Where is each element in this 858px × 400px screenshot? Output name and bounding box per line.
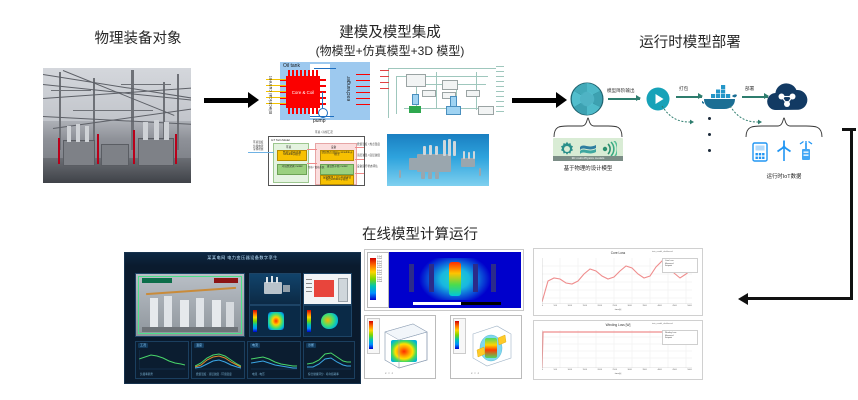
dashboard-chart-legend-1: 绕组温度 · 顶层油温 · 环境温度 xyxy=(196,372,232,376)
dashboard-thumb-2[interactable] xyxy=(249,305,301,337)
sphere-mesh-icon xyxy=(570,82,604,116)
chart-1-xlabel: time[s] xyxy=(615,373,621,375)
pipeline-arrow-2 xyxy=(676,96,702,98)
oil-tank-diagram: Oil tank Core & Coil Electrical current … xyxy=(266,62,370,128)
dashboard-chart-label-1: 温度 xyxy=(194,343,204,348)
iot-data-brace xyxy=(744,116,824,138)
dashboard-thumb-0[interactable] xyxy=(249,273,301,305)
dashboard-chart-label-2: 电流 xyxy=(250,343,260,348)
twin-pink-pane-label: 设备 xyxy=(331,145,336,149)
twin-block-2: 绕组热点温度与 simulink子模型 xyxy=(321,151,353,158)
meter-icon xyxy=(752,142,768,167)
iot-twin-model-box: IoT Twin Model 环境 热源与损耗计算 simulink子模型 环境… xyxy=(268,136,365,186)
twin-block-4: 油温热平衡 model xyxy=(321,165,353,169)
cloud-nodes-icon xyxy=(766,83,808,113)
transformer-3d-render xyxy=(387,134,489,186)
online-section-title: 在线模型计算运行 xyxy=(345,226,495,246)
pipeline-arrow-label-2: 部署 xyxy=(745,86,754,92)
wind-turbine-icon xyxy=(775,140,793,167)
iot-data-label: 运行时IoT数据 xyxy=(744,172,824,180)
substation-photo xyxy=(43,68,191,183)
dashboard-title: 某某电网 电力变压器设备数字孪生 xyxy=(207,255,277,261)
electrical-current-label: Electrical current xyxy=(268,76,273,114)
fea-3d-plot-0: X Y Z xyxy=(364,315,436,379)
chart-0-xticks: 0500100015002000 25003000350040004500500… xyxy=(542,305,692,307)
pump-label: pump xyxy=(313,118,326,124)
twin-mid-note-1: 环境 / 冷却工况 xyxy=(315,130,333,134)
oil-tank-label: Oil tank xyxy=(283,63,300,69)
chart-0-legend-2: Setpoint xyxy=(665,265,695,268)
twin-left-notes: 环境温度 负载电流 冷却状态 xyxy=(253,141,263,152)
line-chart-winding-loss: Winding Loss [W] twin_model_dashboard Wi… xyxy=(533,320,703,380)
chart-1-title: Winding Loss [W] xyxy=(606,323,631,327)
chart-0-legend: Core Loss Measured Setpoint xyxy=(662,258,698,273)
chart-0-xlabel: time[s] xyxy=(615,309,621,311)
right-note-0: 绕组温度 / 热点温度 xyxy=(357,143,380,147)
dashboard-chart-label-0: 工况 xyxy=(138,343,148,348)
dashboard-main-view[interactable] xyxy=(135,273,245,337)
physical-section-title: 物理装备对象 xyxy=(58,30,218,50)
chart-1-legend: Winding Loss Measured Setpoint xyxy=(662,330,698,345)
dashboard-chart-legend-2: 电流 · 电压 xyxy=(252,372,265,376)
pipeline-arrow-3 xyxy=(742,96,768,98)
feedback-line-vertical xyxy=(850,128,853,300)
right-note-1: 顶层油温 / 底层油温 xyxy=(357,154,380,158)
chart-1-xticks: 0500100015002000 25003000350040004500500… xyxy=(542,369,692,371)
chart-1-legend-2: Setpoint xyxy=(665,337,695,340)
dashboard-chart-1[interactable]: 温度 绕组温度 · 顶层油温 · 环境温度 xyxy=(191,341,245,379)
twin-block-5: 设备整体工况与寿命评估 综合simulink子模型 xyxy=(321,176,353,183)
twin-green-pane-label: 环境 xyxy=(286,145,291,149)
feedback-line-bottom xyxy=(748,297,852,300)
dashboard-chart-3[interactable]: 诊断 综合健康评分 · 寿命损耗率 xyxy=(303,341,355,379)
fea-3d-axis-0: X Y Z xyxy=(385,373,393,375)
twin-right-notes: 绕组温度 / 热点温度 顶层油温 / 底层油温 设备运行状态评估 xyxy=(357,143,380,169)
feedback-line-top xyxy=(842,128,856,131)
pipeline-arrow-1 xyxy=(608,98,640,100)
pipeline-dot-2 xyxy=(708,149,711,152)
fea-3d-plot-1: X Y Z xyxy=(450,315,522,379)
line-chart-core-loss: Core Loss twin_model_dashboard Core Loss… xyxy=(533,248,703,316)
twin-mid-note-0: 传热 / 散热系数 xyxy=(308,165,324,169)
twin-input-line xyxy=(248,152,274,153)
fea-3d-axis-1: X Y Z xyxy=(471,373,479,375)
chart-1-annotation: twin_model_dashboard xyxy=(652,323,673,325)
dashboard-chart-label-3: 诊断 xyxy=(306,343,316,348)
modeling-section-title: 建模及模型集成 xyxy=(290,24,490,44)
dashboard-chart-legend-0: 负载率趋势 xyxy=(140,372,153,376)
arrow-physical-to-modeling xyxy=(204,92,259,108)
pipeline-arrow-label-1: 打包 xyxy=(679,86,688,92)
dashboard-chart-legend-3: 综合健康评分 · 寿命损耗率 xyxy=(308,372,339,376)
chart-0-title: Core Loss xyxy=(611,251,626,255)
right-note-2: 设备运行状态评估 xyxy=(357,165,380,169)
physics-caption: 3D multi-Physics models xyxy=(553,156,623,161)
simulink-schematic xyxy=(380,62,508,124)
left-note-2: 冷却状态 xyxy=(253,148,263,152)
dashboard-chart-0[interactable]: 工况 负载率趋势 xyxy=(135,341,189,379)
sensor-icon xyxy=(797,140,815,167)
fea-contour-plot: 1.2e21.0e29.0e18.0e17.0e1 6.0e15.0e14.0e… xyxy=(364,249,524,311)
pipeline-arrow-label-0: 模型降阶输出 xyxy=(607,88,635,94)
pipeline-curve-1 xyxy=(660,104,694,126)
exchanger-label: exchanger xyxy=(346,76,352,101)
pipeline-dot-1 xyxy=(708,133,711,136)
iot-twin-model-label: IoT Twin Model xyxy=(271,138,290,142)
deployment-section-title: 运行时模型部署 xyxy=(600,34,780,54)
feedback-arrow-head xyxy=(738,293,748,305)
arrow-modeling-to-deployment xyxy=(512,92,567,108)
fea-colorbar-ticks: 1.2e21.0e29.0e18.0e17.0e1 6.0e15.0e14.0e… xyxy=(377,256,382,284)
dashboard-chart-2[interactable]: 电流 电流 · 电压 xyxy=(247,341,301,379)
physics-models-group: 3D multi-Physics models xyxy=(553,138,623,161)
chart-0-annotation: twin_model_dashboard xyxy=(652,251,673,253)
core-coil-label: Core & Coil xyxy=(292,90,314,95)
design-model-brace xyxy=(552,116,624,138)
pipeline-dot-0 xyxy=(708,117,711,120)
modeling-section-subtitle: (物模型+仿真模型+3D 模型) xyxy=(280,42,500,59)
dashboard-thumb-1[interactable] xyxy=(303,273,352,305)
design-model-label: 基于物理的设计模型 xyxy=(553,164,623,172)
digital-twin-dashboard[interactable]: 某某电网 电力变压器设备数字孪生 工况 xyxy=(124,252,361,384)
twin-block-3: 环境热交换 model xyxy=(278,165,306,169)
twin-block-1: 热源与损耗计算 simulink子模型 xyxy=(278,151,306,158)
dashboard-thumb-3[interactable] xyxy=(303,305,352,337)
